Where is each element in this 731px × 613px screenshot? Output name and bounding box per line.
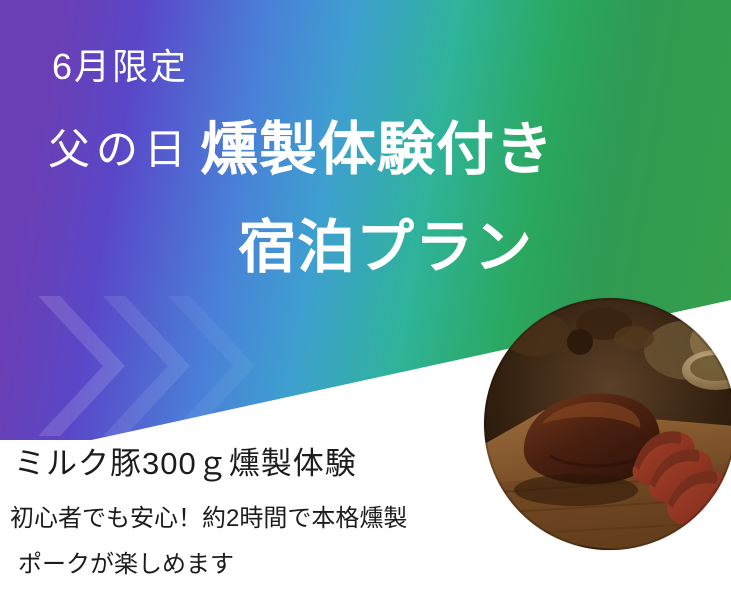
body-copy-sub-line-2: ポークが楽しめます <box>18 544 234 579</box>
headline-month-limited: 6月限定 <box>52 38 188 90</box>
body-copy-sub-line-1: 初心者でも安心！約2時間で本格燻製 <box>10 498 407 533</box>
headline-smoking-experience: 燻製体験付き <box>200 102 554 186</box>
headline-stay-plan: 宿泊プラン <box>238 200 533 284</box>
body-copy-main: ミルク豚300ｇ燻製体験 <box>14 438 357 483</box>
headline-fathers-day: 父の日 <box>48 116 192 177</box>
headline-block: 6月限定 父の日 燻製体験付き 宿泊プラン <box>0 0 731 300</box>
promotional-banner: 6月限定 父の日 燻製体験付き 宿泊プラン ミルク豚300ｇ燻製体験 初心者でも… <box>0 0 731 613</box>
smoked-pork-photo <box>484 298 731 550</box>
